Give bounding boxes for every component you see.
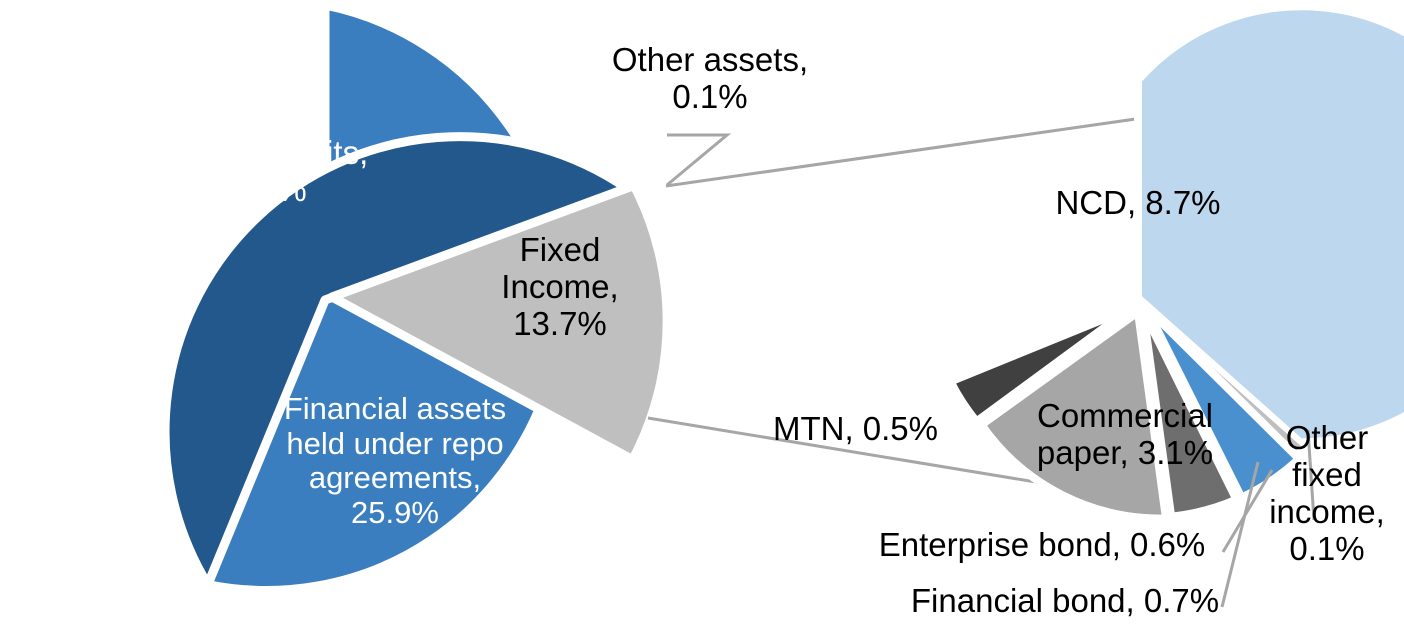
pie-of-pie-chart: Bank deposits, 60.3% Financial assets he… xyxy=(0,0,1404,644)
secondary-pie xyxy=(951,6,1404,518)
main-pie xyxy=(165,5,667,590)
chart-canvas xyxy=(0,0,1404,644)
